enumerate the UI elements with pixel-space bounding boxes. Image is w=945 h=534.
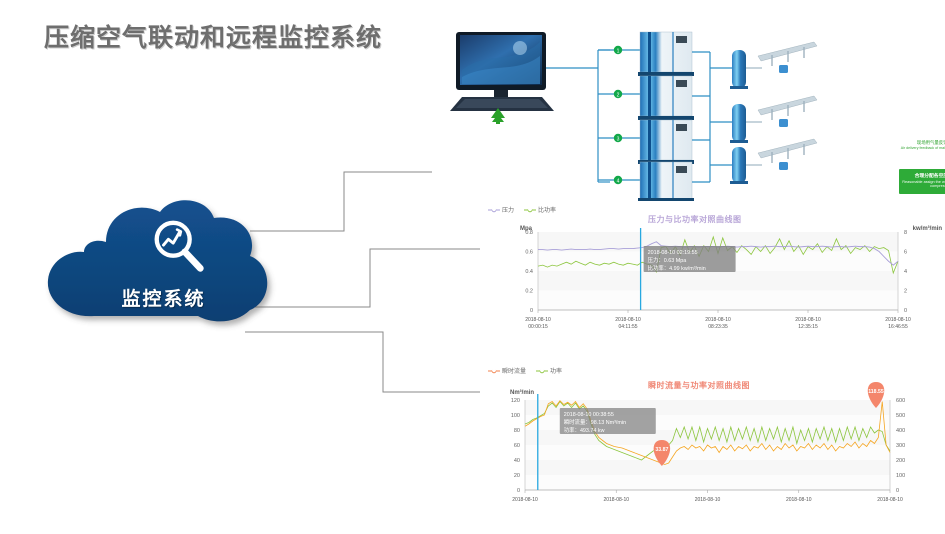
green-callout-box: 合理分配各空压工作状态 Reasonable assign the workin… <box>899 169 945 194</box>
chart2-y2tick: 0 <box>896 488 899 494</box>
svg-text:2: 2 <box>617 92 620 98</box>
chart1-xtick-date: 2018-08-10 <box>795 317 821 323</box>
chart1-xtick-date: 2018-08-10 <box>525 317 551 323</box>
monitor-caption: 现场用气量反馈主控中心 Air delivery feedback of mai… <box>891 140 945 150</box>
chart2-y2tick: 500 <box>896 413 905 419</box>
svg-text:4: 4 <box>617 178 620 184</box>
chart1-xtick-time: 04:11:55 <box>618 324 637 330</box>
chart1-xtick-time: 12:35:15 <box>798 324 818 330</box>
chart1-ytick: 0.2 <box>525 289 533 295</box>
chart-magnifier-icon <box>148 216 210 278</box>
chart1-y-unit: Mpa <box>520 226 532 232</box>
chart2-legend-item-0[interactable]: 瞬时流量 <box>488 366 526 375</box>
diagram-svg: 1 2 3 4 <box>432 22 945 202</box>
legend-marker-icon <box>488 207 500 213</box>
chart1-legend-label-0: 压力 <box>502 205 514 214</box>
chart1-xtick-date: 2018-08-10 <box>885 317 911 323</box>
chart1-xtick-date: 2018-08-10 <box>705 317 731 323</box>
system-architecture-diagram: 1 2 3 4 <box>432 22 945 202</box>
chart1-xtick-time: 16:46:55 <box>888 324 908 330</box>
svg-text:瞬时流量：98.13 Nm³/min: 瞬时流量：98.13 Nm³/min <box>564 418 626 426</box>
chart1-ytick: 0.6 <box>525 250 533 256</box>
pressure-specific-power-chart: 压力 比功率 压力与比功率对照曲线图 Mpa kw/m³/min 0.80.60… <box>480 202 945 337</box>
monitor-caption-en: Air delivery feedback of main control ce… <box>891 146 945 150</box>
chart1-title: 压力与比功率对照曲线图 <box>648 214 742 225</box>
flow-power-chart: 瞬时流量 功率 瞬时流量与功率对照曲线图 Nm³/min 12010080604… <box>480 362 945 529</box>
slide-root: 压缩空气联动和远程监控系统 <box>0 0 945 529</box>
chart2-legend: 瞬时流量 功率 <box>488 366 562 375</box>
chart2-xtick-date: 2018-08-10 <box>603 497 629 503</box>
chart1-y2-unit: kw/m³/min <box>913 226 942 232</box>
chart2-xtick-date: 2018-08-10 <box>695 497 721 503</box>
svg-text:1: 1 <box>617 48 620 54</box>
svg-text:比功率：4.99 kw/m³/min: 比功率：4.99 kw/m³/min <box>648 264 706 272</box>
chart2-y-unit: Nm³/min <box>510 390 534 396</box>
chart2-ytick: 80 <box>514 428 520 434</box>
monitor-icon <box>450 32 554 111</box>
svg-text:33.87: 33.87 <box>655 447 668 453</box>
chart2-ytick: 20 <box>514 473 520 479</box>
chart1-y2tick: 4 <box>904 269 907 275</box>
legend-marker-icon <box>536 368 548 374</box>
chart2-xtick-date: 2018-08-10 <box>877 497 903 503</box>
chart1-legend-label-1: 比功率 <box>538 205 556 214</box>
chart2-xtick-date: 2018-08-10 <box>786 497 812 503</box>
chart2-ytick: 40 <box>514 458 520 464</box>
node-badges: 1 2 3 4 <box>614 46 622 185</box>
page-title: 压缩空气联动和远程监控系统 <box>44 18 382 54</box>
chart2-legend-item-1[interactable]: 功率 <box>536 366 562 375</box>
chart1-y2tick: 2 <box>904 289 907 295</box>
chart1-y2tick: 6 <box>904 250 907 256</box>
svg-text:3: 3 <box>617 136 620 142</box>
chart2-y2tick: 200 <box>896 458 905 464</box>
chart1-legend-item-1[interactable]: 比功率 <box>524 205 556 214</box>
chart2-ytick: 100 <box>511 413 520 419</box>
green-callout-en: Reasonable assign the working states of … <box>899 180 945 189</box>
cloud-monitoring-system[interactable]: 监控系统 <box>36 198 291 333</box>
svg-text:功率：493.74 kw: 功率：493.74 kw <box>564 426 605 434</box>
compressor-units <box>638 32 694 201</box>
chart1-xtick-time: 00:00:15 <box>528 324 548 330</box>
chart2-tooltip: 2018-08-10 00:38:55瞬时流量：98.13 Nm³/min功率：… <box>560 408 656 434</box>
chart2-y2tick: 600 <box>896 398 905 404</box>
chart1-y2tick: 8 <box>904 230 907 236</box>
chart2-ytick: 120 <box>511 398 520 404</box>
chart1-ytick: 0.4 <box>525 269 533 275</box>
chart1-legend-item-0[interactable]: 压力 <box>488 205 514 214</box>
legend-marker-icon <box>488 368 500 374</box>
svg-text:压力：0.63 Mpa: 压力：0.63 Mpa <box>648 256 687 264</box>
chart1-y2tick: 0 <box>904 308 907 314</box>
svg-text:118.55: 118.55 <box>868 389 884 395</box>
chart2-xtick-date: 2018-08-10 <box>512 497 538 503</box>
svg-text:2018-08-10 00:38:55: 2018-08-10 00:38:55 <box>564 412 614 418</box>
chart2-legend-label-1: 功率 <box>550 366 562 375</box>
chart1-ytick: 0 <box>530 308 533 314</box>
chart2-title: 瞬时流量与功率对照曲线图 <box>648 380 750 391</box>
chart2-ytick: 60 <box>514 443 520 449</box>
chart2-y2tick: 300 <box>896 443 905 449</box>
chart1-xtick-date: 2018-08-10 <box>615 317 641 323</box>
chart2-y2tick: 400 <box>896 428 905 434</box>
chart1-legend: 压力 比功率 <box>488 205 556 214</box>
chart2-legend-label-0: 瞬时流量 <box>502 366 526 375</box>
cloud-label: 监控系统 <box>36 284 291 311</box>
svg-text:2018-08-10 02:19:55: 2018-08-10 02:19:55 <box>648 250 698 256</box>
chart2-ytick: 0 <box>517 488 520 494</box>
chart1-xtick-time: 08:23:35 <box>708 324 728 330</box>
chart1-tooltip: 2018-08-10 02:19:55压力：0.63 Mpa比功率：4.99 k… <box>644 246 736 272</box>
chart2-y2tick: 100 <box>896 473 905 479</box>
air-tanks-and-pipeline <box>730 42 817 184</box>
legend-marker-icon <box>524 207 536 213</box>
